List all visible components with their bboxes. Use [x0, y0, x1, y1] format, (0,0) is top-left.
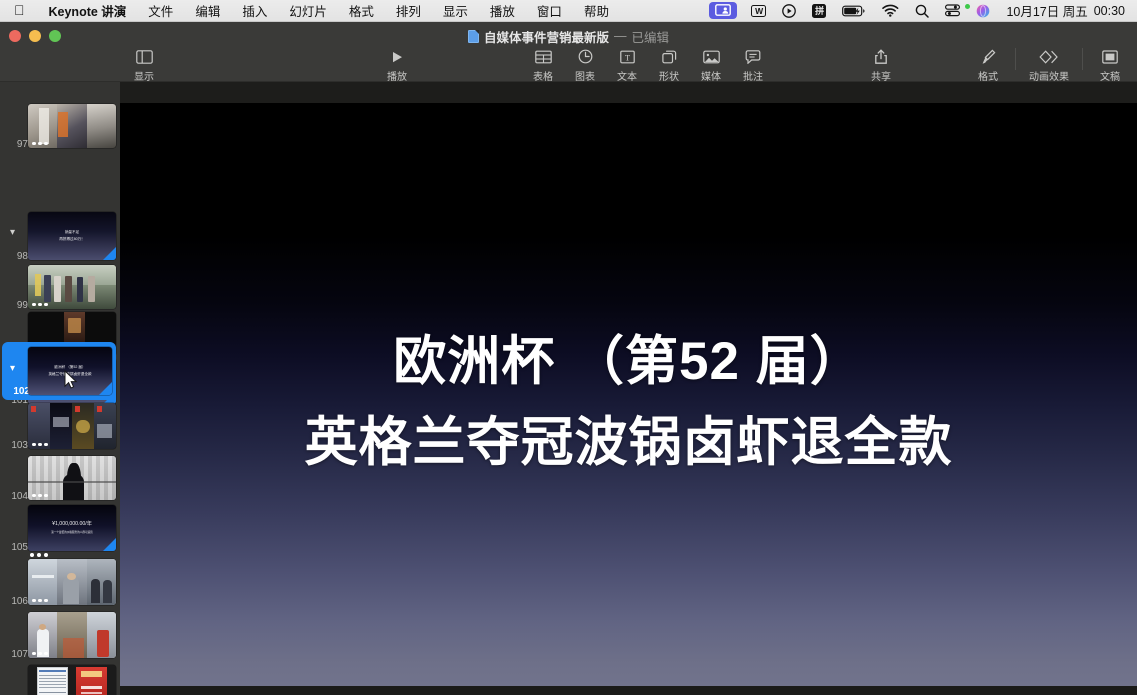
control-center-icon[interactable]: [937, 0, 968, 22]
menubar-time[interactable]: 00:30: [1094, 4, 1129, 18]
slide-thumbnail[interactable]: [28, 403, 116, 449]
wifi-icon[interactable]: [874, 0, 907, 22]
toolbar-chart-button[interactable]: 图表: [564, 46, 606, 83]
current-slide[interactable]: 欧洲杯 （第52 届） 英格兰夺冠波锅卤虾退全款: [120, 103, 1137, 695]
slide-thumbnail[interactable]: [28, 456, 116, 500]
slide-thumbnail[interactable]: 欧洲杯 （第52 届） 英格兰夺冠波锅卤虾退全款: [28, 347, 112, 395]
battery-charging-icon[interactable]: [834, 0, 874, 22]
slide-row-108[interactable]: 108: [0, 665, 120, 695]
slide-number: 103: [2, 440, 28, 451]
slide-number: 104: [2, 491, 28, 502]
slide-row-107[interactable]: 107: [0, 612, 120, 658]
screen-share-icon[interactable]: [709, 2, 737, 19]
title-separator: —: [614, 29, 627, 43]
toolbar-document-button[interactable]: 文稿: [1089, 46, 1131, 83]
spotlight-search-icon[interactable]: [907, 0, 937, 22]
format-brush-icon: [981, 48, 996, 65]
slide-row-105[interactable]: 105 ¥1,000,000.00/年 第一个最低的价格服务的人群可运营: [0, 505, 120, 551]
play-triangle-icon: [390, 48, 404, 65]
menu-item-slide[interactable]: 幻灯片: [278, 1, 338, 20]
menu-item-window[interactable]: 窗口: [526, 1, 573, 20]
toolbar-media-button[interactable]: 媒体: [690, 46, 732, 83]
chevron-down-icon[interactable]: ▾: [10, 364, 15, 374]
menu-item-view[interactable]: 显示: [432, 1, 479, 20]
siri-icon[interactable]: [968, 0, 998, 22]
slide-build-dots: [32, 142, 48, 146]
slide-build-dots: [30, 553, 48, 557]
slide-subtitle[interactable]: 英格兰夺冠波锅卤虾退全款: [120, 416, 1137, 469]
toolbar-right-group: 格式 动画效果: [967, 46, 1131, 83]
toolbar-insert-group: 表格 图表 T: [522, 46, 774, 83]
slide-thumbnail[interactable]: [28, 104, 116, 148]
slide-row-97[interactable]: 97: [0, 104, 120, 148]
menu-item-arrange[interactable]: 排列: [385, 1, 432, 20]
menu-item-edit[interactable]: 编辑: [184, 1, 231, 20]
slide-row-104[interactable]: 104: [0, 456, 120, 500]
slide-thumbnail[interactable]: 销量不足 再拼搏过80万！: [28, 212, 116, 260]
chevron-down-icon[interactable]: ▾: [10, 228, 15, 238]
slide-row-102-selected[interactable]: ▾ 102 欧洲杯 （第52 届） 英格兰夺冠波锅卤虾退全款: [2, 342, 116, 400]
slide-transition-marker: [103, 247, 116, 260]
animate-diamond-icon: [1039, 48, 1059, 65]
share-upload-icon: [874, 48, 888, 65]
slide-thumbnail[interactable]: [28, 612, 116, 658]
slide-number: 105: [2, 542, 28, 553]
toolbar-view-button[interactable]: 显示: [123, 46, 165, 83]
slide-title[interactable]: 欧洲杯 （第52 届）: [120, 335, 1137, 388]
slide-thumbnail[interactable]: [28, 265, 116, 309]
text-box-icon: T: [620, 48, 635, 65]
menu-app-name[interactable]: Keynote 讲演: [38, 1, 138, 20]
pinyin-glyph: 拼: [812, 4, 826, 18]
slide-thumbnail[interactable]: [28, 559, 116, 605]
document-title: 自媒体事件营销最新版: [484, 27, 609, 46]
menu-item-format[interactable]: 格式: [338, 1, 385, 20]
toolbar: 显示 播放: [0, 46, 1137, 82]
slide-row-99[interactable]: 99: [0, 265, 120, 309]
toolbar-divider-2: [1082, 48, 1083, 70]
slide-build-dots: [32, 303, 48, 307]
slide-transition-marker: [103, 538, 116, 551]
window-titlebar: 自媒体事件营销最新版 — 已编辑 显示 播放: [0, 22, 1137, 82]
menu-item-insert[interactable]: 插入: [231, 1, 278, 20]
canvas-bottom-bar: [120, 686, 1137, 695]
slide-row-106[interactable]: 106: [0, 559, 120, 605]
wechat-work-glyph: W: [751, 5, 766, 17]
slide-build-dots: [32, 599, 48, 603]
slide-number: 102: [4, 386, 30, 397]
toolbar-play-button[interactable]: 播放: [376, 46, 418, 83]
slide-build-dots: [32, 494, 48, 498]
menu-item-help[interactable]: 帮助: [573, 1, 620, 20]
menu-bar:  Keynote 讲演 文件 编辑 插入 幻灯片 格式 排列 显示 播放 窗口…: [0, 0, 1137, 22]
svg-text:T: T: [624, 52, 630, 62]
chart-icon: [578, 48, 593, 65]
document-title-bar[interactable]: 自媒体事件营销最新版 — 已编辑: [0, 27, 1137, 45]
slide-number: 97: [6, 139, 28, 150]
slide-navigator[interactable]: 97 ▾ 98 销量不足 再拼搏过80万！: [0, 82, 120, 695]
keynote-window: 自媒体事件营销最新版 — 已编辑 显示 播放: [0, 22, 1137, 695]
slide-number: 107: [2, 649, 28, 660]
menu-bar-status-area: W 拼: [703, 0, 1137, 22]
slide-build-dots: [32, 652, 48, 656]
slide-row-98[interactable]: ▾ 98 销量不足 再拼搏过80万！: [0, 212, 120, 260]
toolbar-animate-button[interactable]: 动画效果: [1022, 46, 1076, 83]
toolbar-share-button[interactable]: 共享: [860, 46, 902, 83]
input-method-pinyin-icon[interactable]: 拼: [804, 0, 834, 22]
slide-row-103[interactable]: 103: [0, 403, 120, 449]
media-play-icon[interactable]: [774, 0, 804, 22]
wechat-work-icon[interactable]: W: [743, 0, 774, 22]
menu-item-play[interactable]: 播放: [479, 1, 526, 20]
toolbar-shape-button[interactable]: 形状: [648, 46, 690, 83]
document-square-icon: [1102, 48, 1118, 65]
menubar-date[interactable]: 10月17日 周五: [998, 1, 1093, 20]
table-icon: [535, 48, 552, 65]
slide-thumbnail[interactable]: ¥1,000,000.00/年 第一个最低的价格服务的人群可运营: [28, 505, 116, 551]
sidebar-panel-icon: [136, 48, 153, 65]
apple-logo-icon[interactable]: : [0, 3, 38, 17]
slide-build-dots: [32, 443, 48, 447]
slide-transition-marker: [99, 382, 112, 395]
slide-number: 98: [6, 251, 28, 262]
menu-item-file[interactable]: 文件: [137, 1, 184, 20]
toolbar-text-button[interactable]: T 文本: [606, 46, 648, 83]
toolbar-comment-button[interactable]: 批注: [732, 46, 774, 83]
toolbar-format-button[interactable]: 格式: [967, 46, 1009, 83]
toolbar-divider-1: [1015, 48, 1016, 70]
toolbar-table-button[interactable]: 表格: [522, 46, 564, 83]
slide-thumbnail[interactable]: [28, 665, 116, 695]
media-image-icon: [703, 48, 720, 65]
slide-number: 106: [2, 596, 28, 607]
keynote-document-icon: [468, 30, 479, 43]
comment-icon: [745, 48, 761, 65]
document-edit-state: 已编辑: [632, 27, 670, 46]
shapes-icon: [662, 48, 677, 65]
slide-number: 99: [6, 300, 28, 311]
slide-canvas-area[interactable]: 欧洲杯 （第52 届） 英格兰夺冠波锅卤虾退全款: [120, 82, 1137, 695]
